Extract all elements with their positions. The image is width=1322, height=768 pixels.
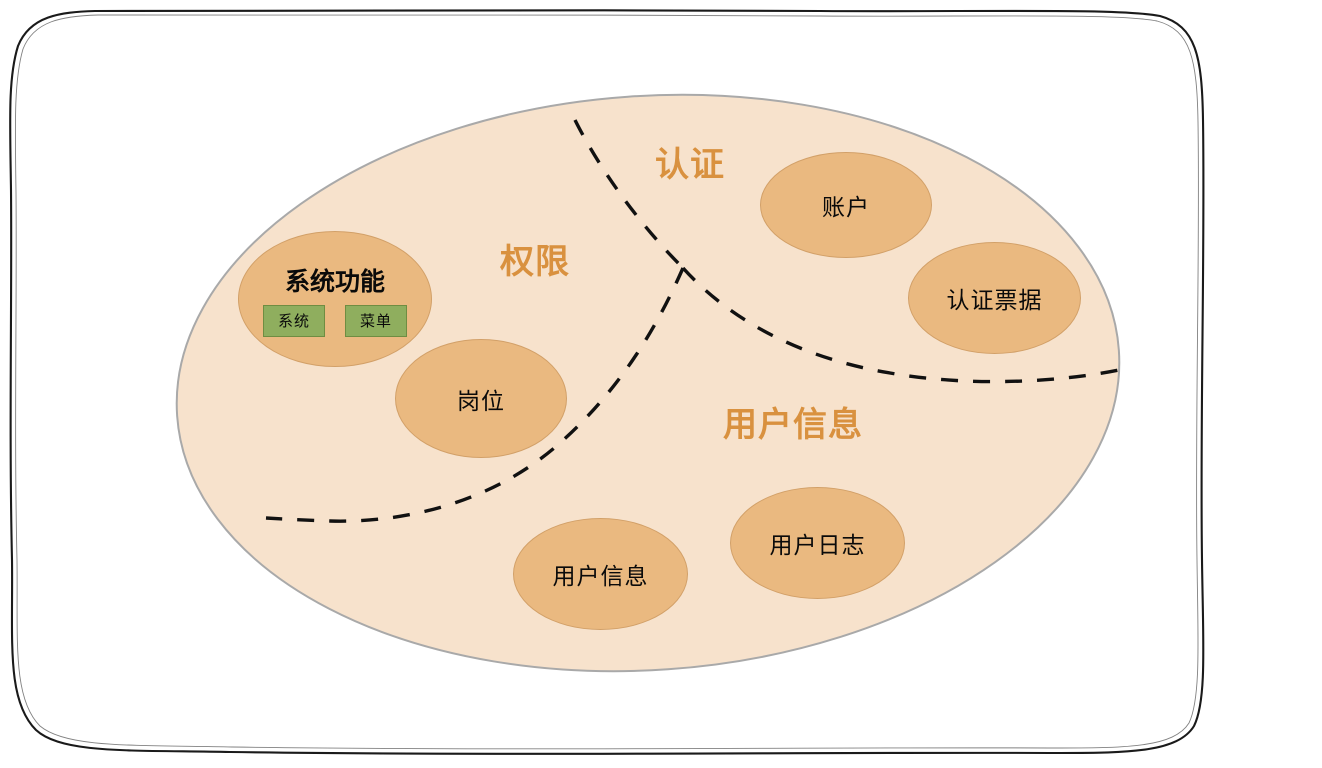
region-label-permission: 权限 — [500, 245, 570, 279]
node-auth-ticket-label: 认证票据 — [947, 281, 1043, 315]
node-system-function-label: 系统功能 — [285, 262, 385, 298]
diagram-canvas: 权限 认证 用户信息 系统功能 系统 菜单 岗位 账户 认证票据 用户信息 用户… — [0, 0, 1322, 768]
node-user-profile-label: 用户信息 — [553, 557, 649, 591]
subbox-menu[interactable]: 菜单 — [345, 305, 407, 337]
node-account-label: 账户 — [822, 188, 870, 222]
node-user-log[interactable]: 用户日志 — [730, 487, 905, 599]
node-position[interactable]: 岗位 — [395, 339, 567, 458]
region-label-auth: 认证 — [655, 148, 725, 182]
node-auth-ticket[interactable]: 认证票据 — [908, 242, 1081, 354]
node-system-function[interactable]: 系统功能 系统 菜单 — [238, 231, 432, 367]
subbox-system[interactable]: 系统 — [263, 305, 325, 337]
region-label-user-info: 用户信息 — [723, 408, 863, 442]
diagram-shapes-layer — [0, 0, 1322, 768]
system-function-subbox-row: 系统 菜单 — [263, 305, 407, 337]
node-account[interactable]: 账户 — [760, 152, 932, 258]
node-user-log-label: 用户日志 — [770, 526, 866, 560]
node-position-label: 岗位 — [457, 382, 505, 416]
node-user-profile[interactable]: 用户信息 — [513, 518, 688, 630]
